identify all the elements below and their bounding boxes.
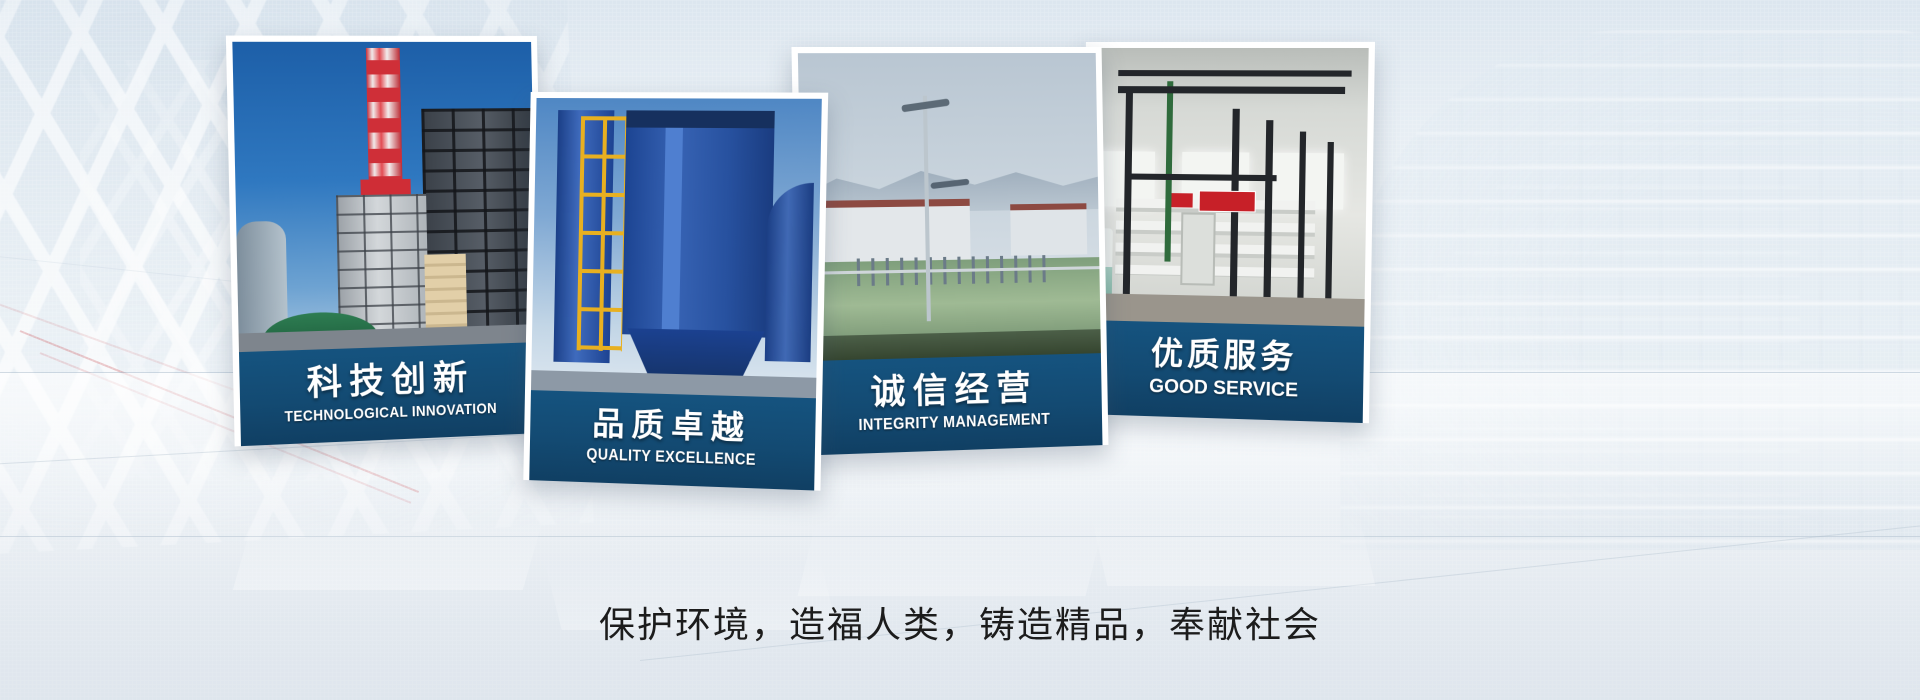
- ro-water-treatment-room-photo: [1088, 48, 1369, 327]
- panel-title-cn: 优质服务: [1087, 334, 1364, 378]
- feature-panel-quality-excellence[interactable]: 品质卓越 QUALITY EXCELLENCE: [523, 92, 828, 491]
- panel-title-en: GOOD SERVICE: [1086, 374, 1363, 404]
- banner-tagline: 保护环境，造福人类，铸造精品，奉献社会: [0, 596, 1920, 648]
- panel-title-cn: 诚信经营: [804, 367, 1102, 414]
- industrial-chimney-stack-photo: [232, 42, 537, 352]
- panel-caption: 科技创新 TECHNOLOGICAL INNOVATION: [239, 342, 539, 446]
- panel-title-en: QUALITY EXCELLENCE: [546, 445, 797, 472]
- wastewater-treatment-plant-photo: [798, 53, 1101, 361]
- panel-caption: 优质服务 GOOD SERVICE: [1086, 320, 1364, 423]
- panel-title-cn: 科技创新: [239, 356, 538, 406]
- blue-dust-collector-photo: [531, 98, 822, 398]
- feature-panel-integrity-management[interactable]: 诚信经营 INTEGRITY MANAGEMENT: [791, 47, 1108, 456]
- feature-panel-group: 科技创新 TECHNOLOGICAL INNOVATION 品质卓越 QUALI…: [0, 0, 1920, 700]
- feature-panel-technological-innovation[interactable]: 科技创新 TECHNOLOGICAL INNOVATION: [226, 36, 545, 447]
- panel-caption: 品质卓越 QUALITY EXCELLENCE: [529, 390, 816, 490]
- panel-caption: 诚信经营 INTEGRITY MANAGEMENT: [803, 353, 1102, 455]
- promo-banner: 科技创新 TECHNOLOGICAL INNOVATION 品质卓越 QUALI…: [0, 0, 1920, 700]
- feature-panel-good-service[interactable]: 优质服务 GOOD SERVICE: [1080, 42, 1375, 423]
- panel-title-en: INTEGRITY MANAGEMENT: [823, 410, 1085, 437]
- panel-title-cn: 品质卓越: [530, 404, 816, 449]
